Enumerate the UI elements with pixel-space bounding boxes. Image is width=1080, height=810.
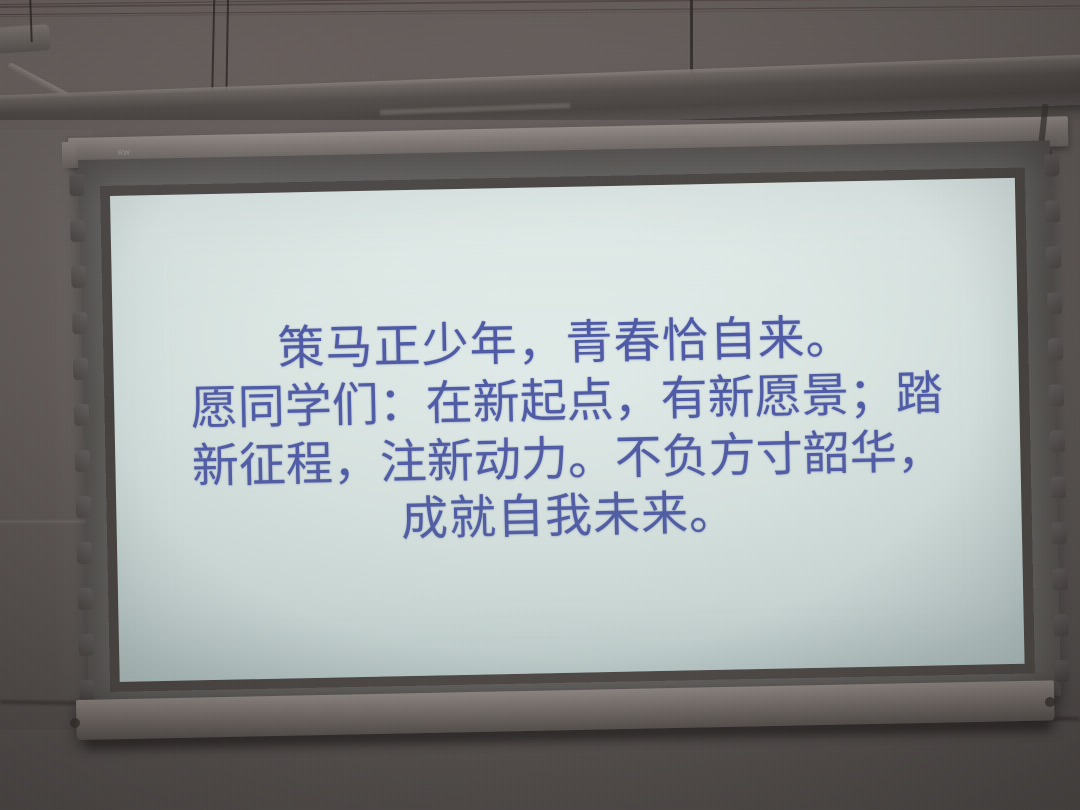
screen-tension-tab: [1052, 568, 1067, 590]
screen-tension-tab: [71, 266, 86, 288]
screen-tension-tab: [1049, 384, 1064, 406]
screen-tension-tab: [75, 450, 90, 472]
screen-tension-tab: [1050, 430, 1065, 452]
screen-tension-tab: [1053, 614, 1068, 636]
screen-tension-tab: [1054, 660, 1069, 682]
ceiling-pipe-fitting: [0, 24, 51, 54]
screen-tension-tab: [1046, 246, 1061, 268]
screen-tension-tab: [1045, 200, 1060, 222]
screen-tension-tab: [79, 634, 94, 656]
screen-tension-tab: [1051, 522, 1066, 544]
screen-tension-tab: [70, 220, 85, 242]
screen-tension-tab: [76, 496, 91, 518]
classroom-photo-scene: RW 策马正少年，青春恰自来。 愿同学们：在新起点，有新愿景；踏 新征程，注新动…: [0, 0, 1080, 810]
screen-bar-end-knob-right: [1045, 697, 1055, 707]
screen-tension-tab: [1047, 292, 1062, 314]
screen-tension-tab: [1051, 476, 1066, 498]
screen-tension-tab: [1048, 338, 1063, 360]
screen-tension-tab: [69, 174, 84, 196]
screen-tension-tab: [1044, 154, 1059, 176]
screen-tension-tab: [78, 588, 93, 610]
screen-bar-end-knob-left: [70, 718, 80, 728]
screen-housing-marking: RW: [118, 150, 130, 157]
projection-surface[interactable]: 策马正少年，青春恰自来。 愿同学们：在新起点，有新愿景；踏 新征程，注新动力。不…: [110, 178, 1025, 682]
screen-tension-tab: [73, 358, 88, 380]
screen-tension-tab: [77, 542, 92, 564]
slide-text-block: 策马正少年，青春恰自来。 愿同学们：在新起点，有新愿景；踏 新征程，注新动力。不…: [110, 178, 1025, 682]
screen-tension-tab: [74, 404, 89, 426]
slide-line-1: 策马正少年，青春恰自来。: [277, 309, 854, 378]
slide-line-4: 成就自我未来。: [400, 484, 737, 548]
screen-tension-tab: [72, 312, 87, 334]
